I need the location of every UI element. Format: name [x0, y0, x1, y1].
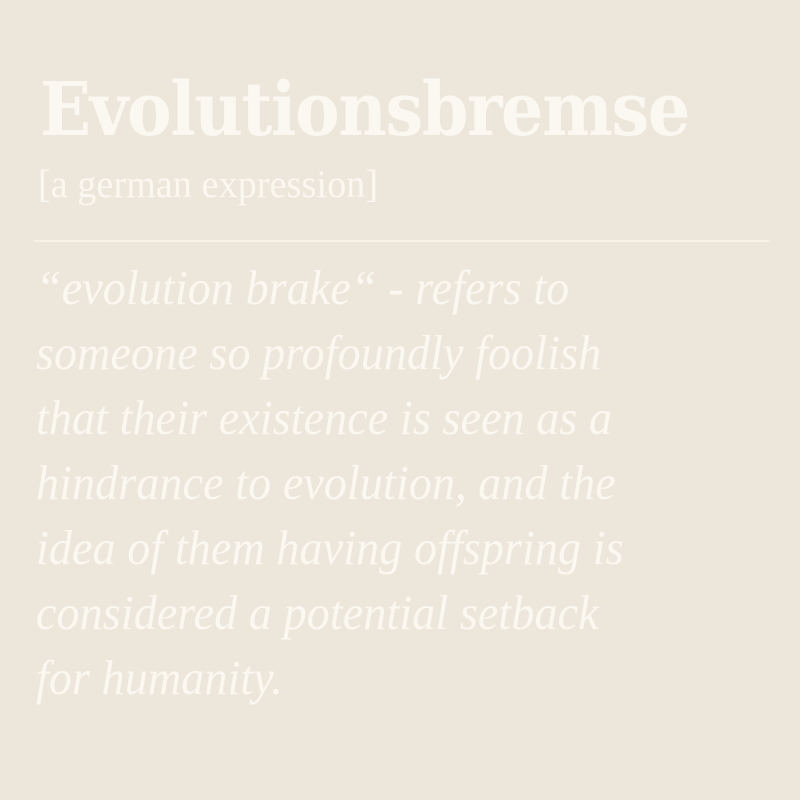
definition-line: that their existence is seen as a — [36, 385, 732, 450]
definition-card: Evolutionsbremse [a german expression] “… — [0, 0, 800, 800]
definition-line: considered a potential setback — [36, 580, 732, 645]
definition-line: idea of them having offspring is — [36, 515, 732, 580]
definition-line: for humanity. — [36, 645, 732, 710]
definition-line: hindrance to evolution, and the — [36, 450, 732, 515]
page-title: Evolutionsbremse — [40, 68, 689, 152]
divider — [34, 240, 770, 242]
definition-line: someone so profoundly foolish — [36, 320, 732, 385]
definition-body: “evolution brake“ - refers to someone so… — [36, 255, 776, 710]
page-subtitle: [a german expression] — [38, 163, 378, 207]
definition-line: “evolution brake“ - refers to — [36, 255, 732, 320]
